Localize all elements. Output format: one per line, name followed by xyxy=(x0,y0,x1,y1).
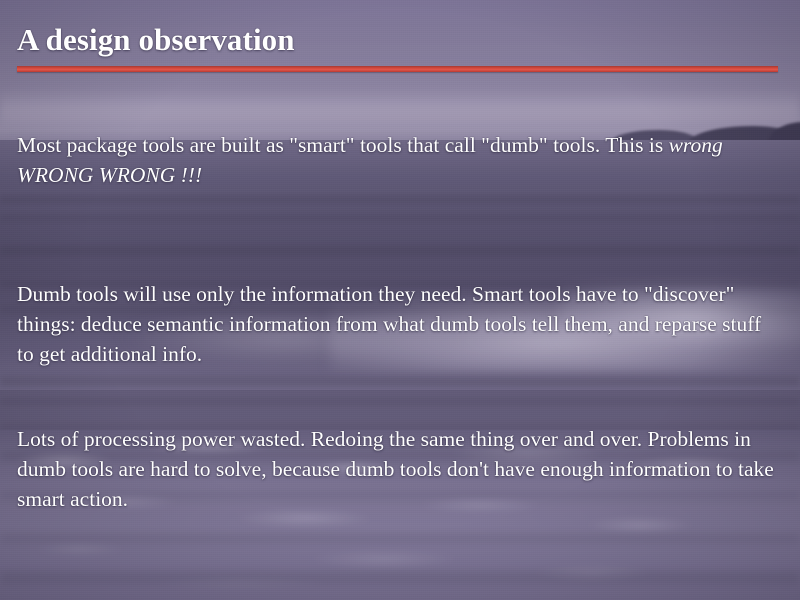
presentation-slide: A design observation Most package tools … xyxy=(0,0,800,600)
title-underline-rule xyxy=(17,66,778,72)
text-run: Dumb tools will use only the information… xyxy=(17,282,761,366)
body-paragraph-3: Lots of processing power wasted. Redoing… xyxy=(17,424,783,514)
slide-title: A design observation xyxy=(17,24,295,57)
text-run: Most package tools are built as "smart" … xyxy=(17,133,669,157)
paragraph-text: Dumb tools will use only the information… xyxy=(17,279,783,369)
paragraph-text: Lots of processing power wasted. Redoing… xyxy=(17,424,783,514)
body-paragraph-2: Dumb tools will use only the information… xyxy=(17,279,783,369)
paragraph-text: Most package tools are built as "smart" … xyxy=(17,130,783,190)
slide-content: A design observation Most package tools … xyxy=(0,0,800,600)
text-run: Lots of processing power wasted. Redoing… xyxy=(17,427,774,511)
body-paragraph-1: Most package tools are built as "smart" … xyxy=(17,130,783,190)
